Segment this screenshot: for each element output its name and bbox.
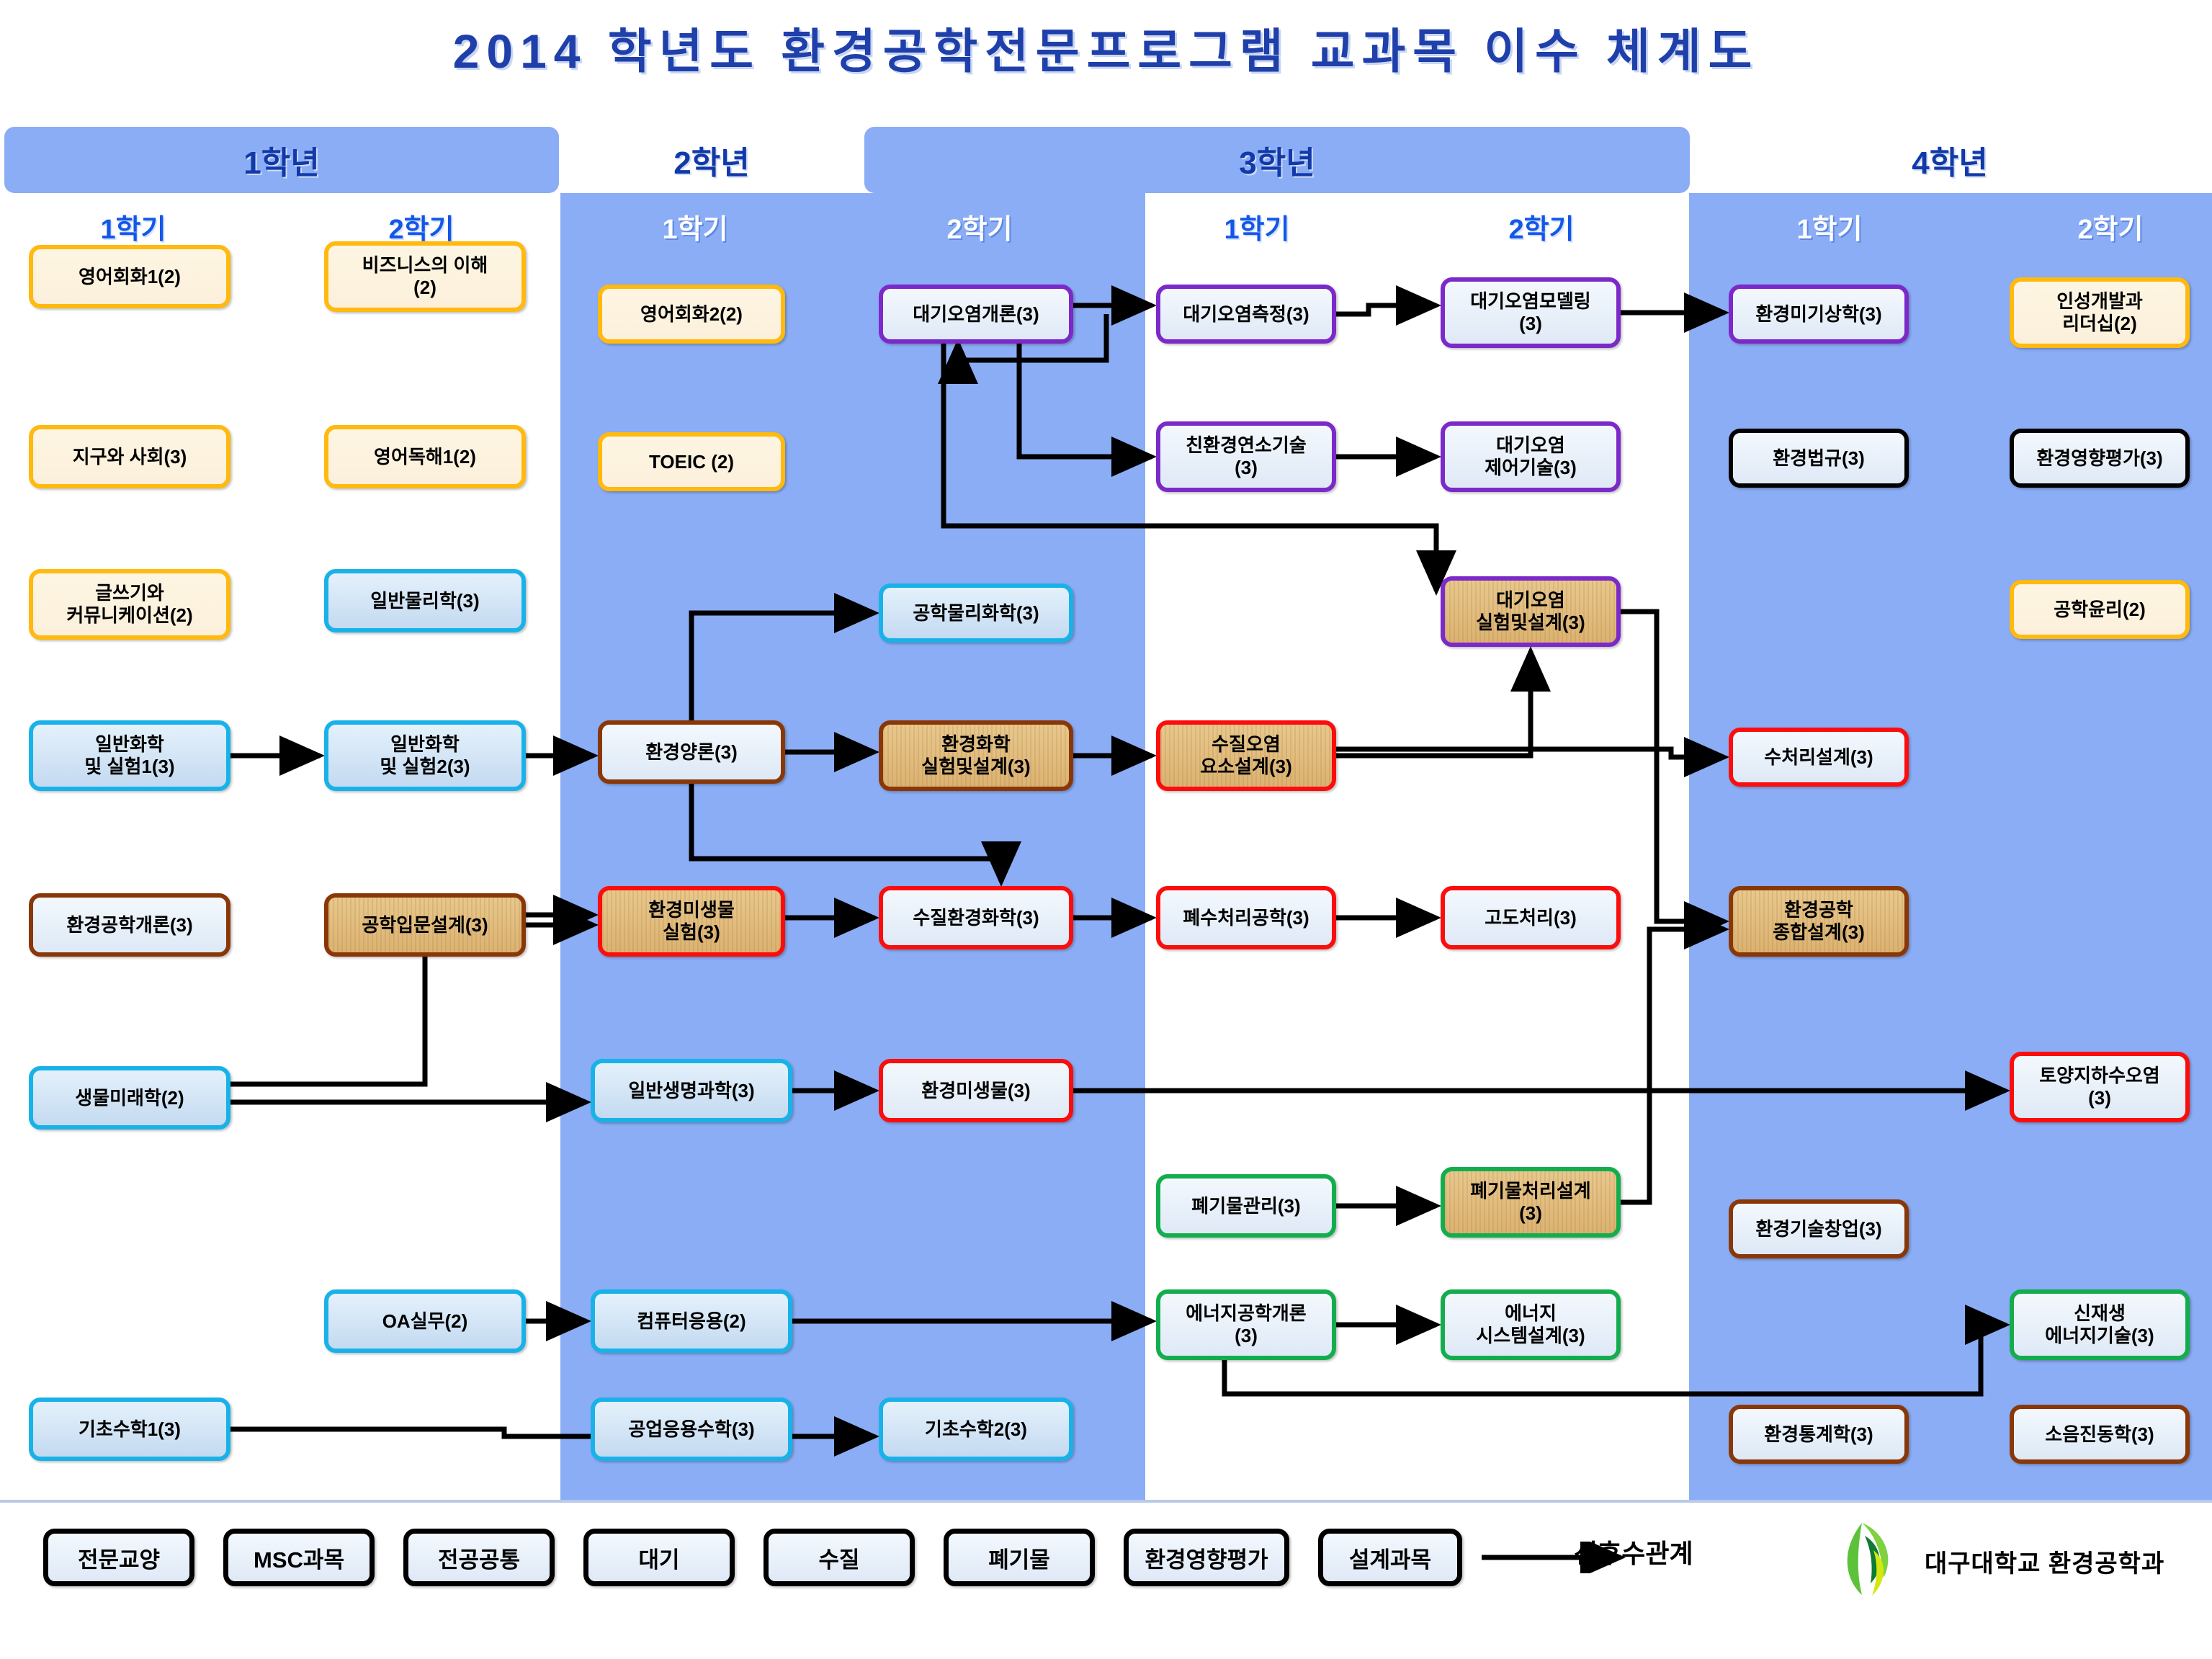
course-label: 환경화학 실험및설계(3)	[921, 733, 1030, 777]
legend-divider	[0, 1500, 2212, 1503]
course-label: 기초수학1(3)	[79, 1418, 181, 1441]
university-logo-icon	[1833, 1521, 1912, 1597]
course-box-renewable-energy[interactable]: 신재생 에너지기술(3)	[2010, 1289, 2190, 1360]
course-label: 영어독해1(2)	[374, 446, 476, 468]
course-label: 일반화학 및 실험1(3)	[84, 733, 174, 777]
course-label: 영어회화1(2)	[79, 266, 181, 288]
course-box-water-treat-design[interactable]: 수처리설계(3)	[1729, 728, 1909, 787]
course-label: 수질환경화학(3)	[913, 907, 1039, 929]
course-box-eng-design-intro[interactable]: 공학입문설계(3)	[324, 893, 526, 957]
course-label: 토양지하수오염 (3)	[2039, 1065, 2159, 1109]
course-label: 환경양론(3)	[645, 741, 737, 764]
course-label: 신재생 에너지기술(3)	[2045, 1302, 2154, 1346]
course-box-energy-sys-design[interactable]: 에너지 시스템설계(3)	[1441, 1289, 1621, 1360]
course-label: 대기오염측정(3)	[1183, 303, 1309, 326]
course-box-writing-comm[interactable]: 글쓰기와 커뮤니케이션(2)	[29, 569, 230, 640]
legend-item-leg-water[interactable]: 수질	[764, 1529, 915, 1586]
course-box-env-micromet[interactable]: 환경미기상학(3)	[1729, 285, 1909, 344]
course-box-personality-lead[interactable]: 인성개발과 리더십(2)	[2010, 277, 2190, 348]
course-label: 대기오염 제어기술(3)	[1485, 434, 1576, 478]
course-box-bio-future[interactable]: 생물미래학(2)	[29, 1066, 230, 1130]
course-label: 일반물리학(3)	[370, 590, 479, 612]
course-box-eco-combustion[interactable]: 친환경연소기술 (3)	[1156, 421, 1336, 492]
course-label: TOEIC (2)	[649, 451, 734, 473]
course-label: 일반화학 및 실험2(3)	[380, 733, 470, 777]
course-box-computer-app[interactable]: 컴퓨터응용(2)	[591, 1289, 792, 1353]
course-box-eng-conv2[interactable]: 영어회화2(2)	[598, 285, 785, 344]
course-label: 소음진동학(3)	[2045, 1423, 2154, 1446]
course-box-air-measure[interactable]: 대기오염측정(3)	[1156, 285, 1336, 344]
course-label: OA실무(2)	[382, 1310, 468, 1333]
legend-item-leg-msc[interactable]: MSC과목	[223, 1529, 375, 1586]
course-label: 인성개발과 리더십(2)	[2056, 290, 2143, 334]
course-box-eng-physchem[interactable]: 공학물리화학(3)	[879, 583, 1073, 643]
course-label: 기초수학2(3)	[925, 1418, 1027, 1441]
course-box-env-law[interactable]: 환경법규(3)	[1729, 429, 1909, 488]
course-box-gen-chem1[interactable]: 일반화학 및 실험1(3)	[29, 720, 230, 791]
course-box-waste-treat-design[interactable]: 폐기물처리설계 (3)	[1441, 1167, 1621, 1238]
course-label: 환경영향평가(3)	[2036, 447, 2162, 470]
legend-item-leg-waste[interactable]: 폐기물	[944, 1529, 1095, 1586]
course-box-wastewater-eng[interactable]: 폐수처리공학(3)	[1156, 886, 1336, 949]
course-label: 일반생명과학(3)	[628, 1080, 754, 1102]
course-box-gen-chem2[interactable]: 일반화학 및 실험2(3)	[324, 720, 526, 791]
course-label: 생물미래학(2)	[75, 1087, 184, 1109]
course-label: 컴퓨터응용(2)	[637, 1310, 745, 1333]
course-label: 지구와 사회(3)	[73, 446, 187, 468]
course-box-env-eng-intro[interactable]: 환경공학개론(3)	[29, 893, 230, 957]
course-box-env-statistics[interactable]: 환경통계학(3)	[1729, 1405, 1909, 1464]
course-box-basic-math1[interactable]: 기초수학1(3)	[29, 1398, 230, 1461]
course-box-oa-practice[interactable]: OA실무(2)	[324, 1289, 526, 1353]
course-label: 글쓰기와 커뮤니케이션(2)	[66, 582, 192, 626]
legend-item-leg-general[interactable]: 전문교양	[43, 1529, 194, 1586]
legend-arrow-label: 선후수관계	[1574, 1533, 1693, 1570]
course-box-energy-eng-intro[interactable]: 에너지공학개론 (3)	[1156, 1289, 1336, 1360]
course-label: 환경법규(3)	[1773, 447, 1864, 470]
course-label: 영어회화2(2)	[640, 303, 743, 326]
course-box-soil-groundwater[interactable]: 토양지하수오염 (3)	[2010, 1052, 2190, 1122]
course-box-gen-life-sci[interactable]: 일반생명과학(3)	[591, 1059, 792, 1122]
course-label: 공학입문설계(3)	[362, 914, 488, 936]
course-label: 에너지 시스템설계(3)	[1476, 1302, 1585, 1346]
course-box-env-microbio[interactable]: 환경미생물(3)	[879, 1059, 1073, 1122]
course-label: 수질오염 요소설계(3)	[1200, 733, 1291, 777]
legend-item-leg-design[interactable]: 설계과목	[1318, 1529, 1462, 1586]
course-box-env-impact-assess[interactable]: 환경영향평가(3)	[2010, 429, 2190, 488]
course-label: 폐수처리공학(3)	[1183, 907, 1309, 929]
course-label: 환경미기상학(3)	[1755, 303, 1881, 326]
course-label: 공학윤리(2)	[2054, 599, 2145, 621]
course-label: 대기오염모델링 (3)	[1470, 290, 1590, 334]
course-label: 환경공학 종합설계(3)	[1773, 899, 1864, 943]
course-label: 폐기물관리(3)	[1191, 1195, 1300, 1217]
course-grid: 영어회화1(2)지구와 사회(3)글쓰기와 커뮤니케이션(2)일반화학 및 실험…	[0, 0, 2212, 1659]
course-label: 비즈니스의 이해 (2)	[362, 254, 488, 298]
course-label: 대기오염 실험및설계(3)	[1476, 589, 1585, 633]
course-box-ind-app-math[interactable]: 공업응용수학(3)	[591, 1398, 792, 1461]
course-label: 환경기술창업(3)	[1755, 1218, 1881, 1240]
course-box-env-capstone[interactable]: 환경공학 종합설계(3)	[1729, 886, 1909, 957]
course-box-air-modeling[interactable]: 대기오염모델링 (3)	[1441, 277, 1621, 348]
department-name: 대구대학교 환경공학과	[1925, 1544, 2164, 1579]
course-box-water-factor-design[interactable]: 수질오염 요소설계(3)	[1156, 720, 1336, 791]
course-label: 수처리설계(3)	[1764, 746, 1873, 769]
course-label: 환경통계학(3)	[1764, 1423, 1873, 1446]
course-box-eng-ethics[interactable]: 공학윤리(2)	[2010, 580, 2190, 639]
course-label: 공업응용수학(3)	[628, 1418, 754, 1441]
course-label: 대기오염개론(3)	[913, 303, 1039, 326]
course-box-basic-math2[interactable]: 기초수학2(3)	[879, 1398, 1073, 1461]
course-box-env-quantity[interactable]: 환경양론(3)	[598, 720, 785, 784]
course-box-gen-physics[interactable]: 일반물리학(3)	[324, 569, 526, 632]
course-box-toeic[interactable]: TOEIC (2)	[598, 432, 785, 491]
course-label: 공학물리화학(3)	[913, 602, 1039, 625]
course-label: 친환경연소기술 (3)	[1186, 434, 1306, 478]
course-box-water-env-chem[interactable]: 수질환경화학(3)	[879, 886, 1073, 949]
legend-item-leg-common[interactable]: 전공공통	[403, 1529, 555, 1586]
course-box-air-control[interactable]: 대기오염 제어기술(3)	[1441, 421, 1621, 492]
course-box-business[interactable]: 비즈니스의 이해 (2)	[324, 241, 526, 312]
course-box-air-lab-design[interactable]: 대기오염 실험및설계(3)	[1441, 576, 1621, 647]
course-box-earth-society[interactable]: 지구와 사회(3)	[29, 425, 230, 488]
course-box-eng-read1[interactable]: 영어독해1(2)	[324, 425, 526, 488]
legend-item-leg-eia[interactable]: 환경영향평가	[1124, 1529, 1289, 1586]
course-label: 폐기물처리설계 (3)	[1470, 1180, 1590, 1224]
course-label: 고도처리(3)	[1485, 907, 1576, 929]
course-label: 환경미생물(3)	[921, 1080, 1030, 1102]
legend-item-leg-air[interactable]: 대기	[583, 1529, 735, 1586]
course-box-eng-conv1[interactable]: 영어회화1(2)	[29, 245, 230, 308]
course-label: 환경미생물 실험(3)	[648, 899, 735, 943]
course-label: 환경공학개론(3)	[66, 914, 192, 936]
course-label: 에너지공학개론 (3)	[1186, 1302, 1306, 1346]
course-box-env-tech-startup[interactable]: 환경기술창업(3)	[1729, 1199, 1909, 1258]
course-box-env-micro-lab[interactable]: 환경미생물 실험(3)	[598, 886, 785, 957]
course-box-noise-vibration[interactable]: 소음진동학(3)	[2010, 1405, 2190, 1464]
course-box-env-chem-lab[interactable]: 환경화학 실험및설계(3)	[879, 720, 1073, 791]
course-box-waste-mgmt[interactable]: 폐기물관리(3)	[1156, 1174, 1336, 1238]
course-box-advanced-treat[interactable]: 고도처리(3)	[1441, 886, 1621, 949]
course-box-air-pollution-intro[interactable]: 대기오염개론(3)	[879, 285, 1073, 344]
